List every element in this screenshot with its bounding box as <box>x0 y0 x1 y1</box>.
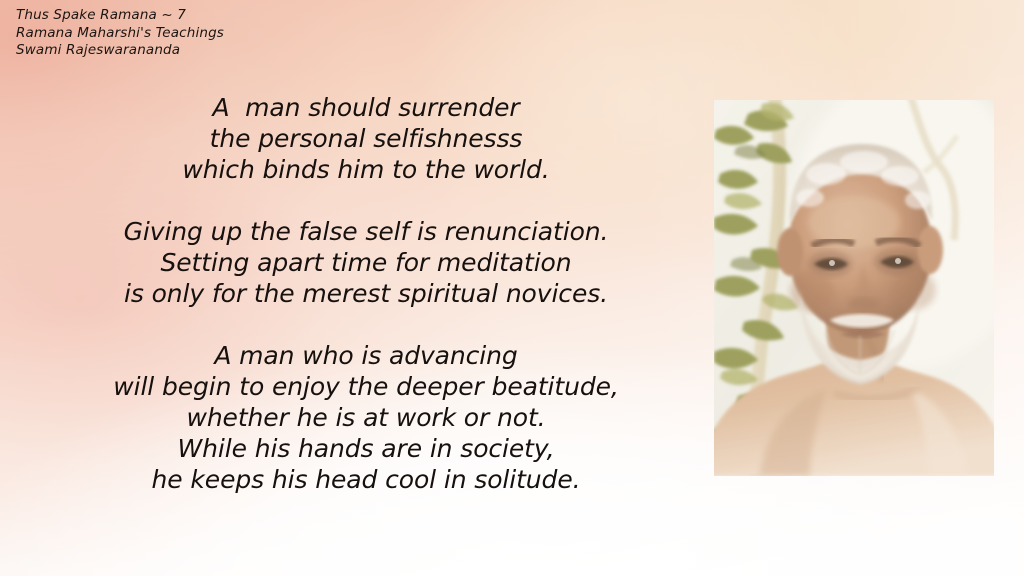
slide-canvas: Thus Spake Ramana ~ 7 Ramana Maharshi's … <box>0 0 1024 576</box>
quote-line: whether he is at work or not. <box>36 402 696 433</box>
quote-stanza-2: Giving up the false self is renunciation… <box>36 216 696 309</box>
quote-stanza-1: A man should surrender the personal self… <box>36 92 696 185</box>
credits-line-source: Ramana Maharshi's Teachings <box>16 25 224 43</box>
quote-line: A man should surrender <box>36 92 696 123</box>
credits-line-title: Thus Spake Ramana ~ 7 <box>16 7 224 25</box>
quote-line: is only for the merest spiritual novices… <box>36 278 696 309</box>
quote-line: will begin to enjoy the deeper beatitude… <box>36 371 696 402</box>
quote-line: which binds him to the world. <box>36 154 696 185</box>
portrait-illustration <box>714 100 994 476</box>
quote-block: A man should surrender the personal self… <box>36 92 696 495</box>
quote-line: A man who is advancing <box>36 340 696 371</box>
quote-line: Setting apart time for meditation <box>36 247 696 278</box>
quote-stanza-3: A man who is advancing will begin to enj… <box>36 340 696 495</box>
quote-line: he keeps his head cool in solitude. <box>36 464 696 495</box>
quote-line: the personal selfishnesss <box>36 123 696 154</box>
credits-line-author: Swami Rajeswarananda <box>16 42 224 60</box>
credits-block: Thus Spake Ramana ~ 7 Ramana Maharshi's … <box>16 7 224 60</box>
portrait-photo <box>714 100 994 476</box>
quote-line: Giving up the false self is renunciation… <box>36 216 696 247</box>
quote-line: While his hands are in society, <box>36 433 696 464</box>
